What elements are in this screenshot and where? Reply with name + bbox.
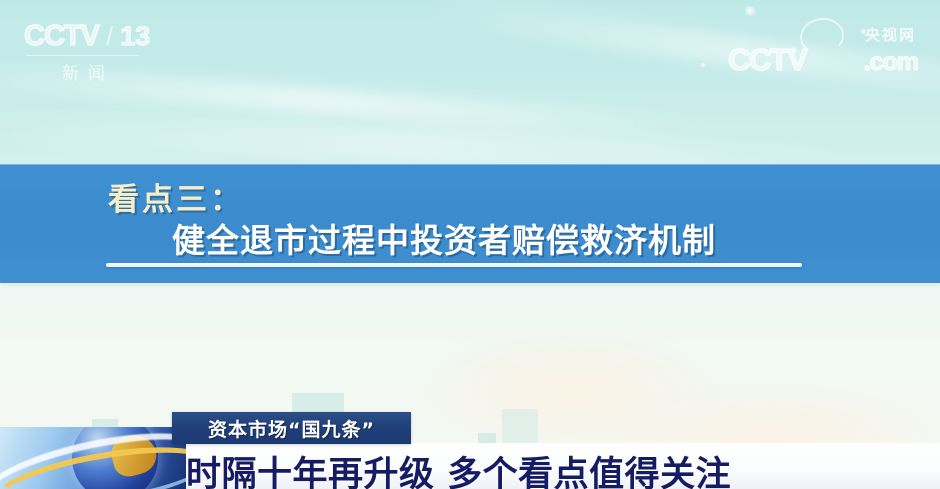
watermark-wordmark: CCTV bbox=[728, 42, 806, 78]
warm-haze bbox=[420, 330, 720, 450]
broadcast-frame: CCTV / 13 新闻 央视网 CCTV .com 看点三： 健全退市过程中投… bbox=[0, 0, 940, 489]
kicker-label: 资本市场“国九条” bbox=[208, 415, 375, 442]
logo-slash-icon: / bbox=[106, 21, 113, 52]
logo-divider bbox=[26, 55, 138, 56]
lower-third-headline: 时隔十年再升级 多个看点值得关注 bbox=[186, 446, 731, 489]
channel-subtitle: 新闻 bbox=[24, 59, 144, 84]
banner-headline-primary: 看点三： bbox=[108, 174, 244, 219]
glow-dot bbox=[700, 62, 706, 68]
cctv-com-watermark: 央视网 CCTV .com bbox=[728, 18, 918, 80]
watermark-domain: .com bbox=[864, 48, 918, 77]
lower-third-kicker-badge: 资本市场“国九条” bbox=[172, 412, 411, 444]
channel-number: 13 bbox=[120, 21, 150, 52]
cctv-globe-bug bbox=[0, 427, 186, 489]
glow-dot bbox=[742, 6, 758, 16]
watermark-chinese: 央视网 bbox=[865, 24, 916, 45]
topic-banner: 看点三： 健全退市过程中投资者赔偿救济机制 bbox=[0, 164, 940, 283]
banner-underline bbox=[106, 263, 802, 267]
banner-headline-secondary: 健全退市过程中投资者赔偿救济机制 bbox=[172, 214, 716, 262]
cctv-wordmark: CCTV bbox=[24, 20, 99, 53]
cctv-13-logo: CCTV / 13 新闻 bbox=[24, 20, 144, 78]
